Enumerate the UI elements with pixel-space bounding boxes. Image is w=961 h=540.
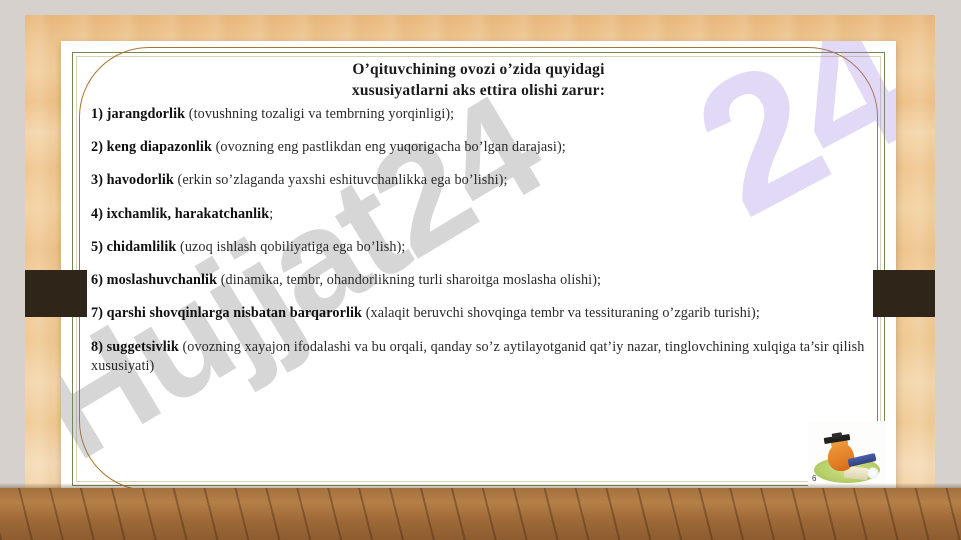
list-item-lead: 5) chidamlilik [91,239,176,255]
list-item-lead: 1) jarangdorlik [91,106,185,122]
list-item: 4) ixchamlik, harakatchanlik; [91,205,866,224]
list-item: 7) qarshi shovqinlarga nisbatan barqaror… [91,304,866,323]
list-item-rest: (tovushning tozaligi va tembrning yorqin… [185,106,454,122]
list-item-rest: (dinamika, tembr, ohandorlikning turli s… [217,272,601,288]
list-item-lead: 8) suggetsivlik [91,339,179,355]
slide-title: O’qituvchining ovozi o’zida quyidagi xus… [91,59,866,101]
slide-text-content: O’qituvchining ovozi o’zida quyidagi xus… [91,59,866,390]
list-item: 1) jarangdorlik (tovushning tozaligi va … [91,105,866,124]
list-item-lead: 6) moslashuvchanlik [91,272,217,288]
list-item-lead: 7) qarshi shovqinlarga nisbatan barqaror… [91,305,362,321]
list-item: 5) chidamlilik (uzoq ishlash qobiliyatig… [91,238,866,257]
title-line-2: xususiyatlarni aks ettira olishi zarur: [91,80,866,101]
presentation-slide: 24 Hujjat24 O’qituvchining ovozi o’zida … [25,15,935,525]
list-item-rest: ; [269,206,273,222]
list-item-lead: 2) keng diapazonlik [91,139,212,155]
sparkle-shape [867,467,879,479]
list-item-rest: (xalaqit beruvchi shovqinga tembr va tes… [362,305,760,321]
graduate-illustration: 6 [808,421,886,491]
list-item: 6) moslashuvchanlik (dinamika, tembr, oh… [91,271,866,290]
slide-number: 6 [812,474,816,483]
list-item: 3) havodorlik (erkin so’zlaganda yaxshi … [91,171,866,190]
list-item-rest: (ovozning xayajon ifodalashi va bu orqal… [91,339,865,374]
left-dark-tab [25,270,87,317]
list-item: 2) keng diapazonlik (ovozning eng pastli… [91,138,866,157]
list-item: 8) suggetsivlik (ovozning xayajon ifodal… [91,338,866,376]
right-dark-tab [873,270,935,317]
list-item-lead: 3) havodorlik [91,172,174,188]
list-item-rest: (uzoq ishlash qobiliyatiga ega bo’lish); [176,239,405,255]
list-item-rest: (erkin so’zlaganda yaxshi eshituvchanlik… [174,172,508,188]
title-line-1: O’qituvchining ovozi o’zida quyidagi [352,61,604,78]
slide-content-card: 24 Hujjat24 O’qituvchining ovozi o’zida … [61,41,896,497]
list-item-rest: (ovozning eng pastlikdan eng yuqorigacha… [212,139,566,155]
wooden-floor [0,488,961,540]
list-item-lead: 4) ixchamlik, harakatchanlik [91,206,269,222]
